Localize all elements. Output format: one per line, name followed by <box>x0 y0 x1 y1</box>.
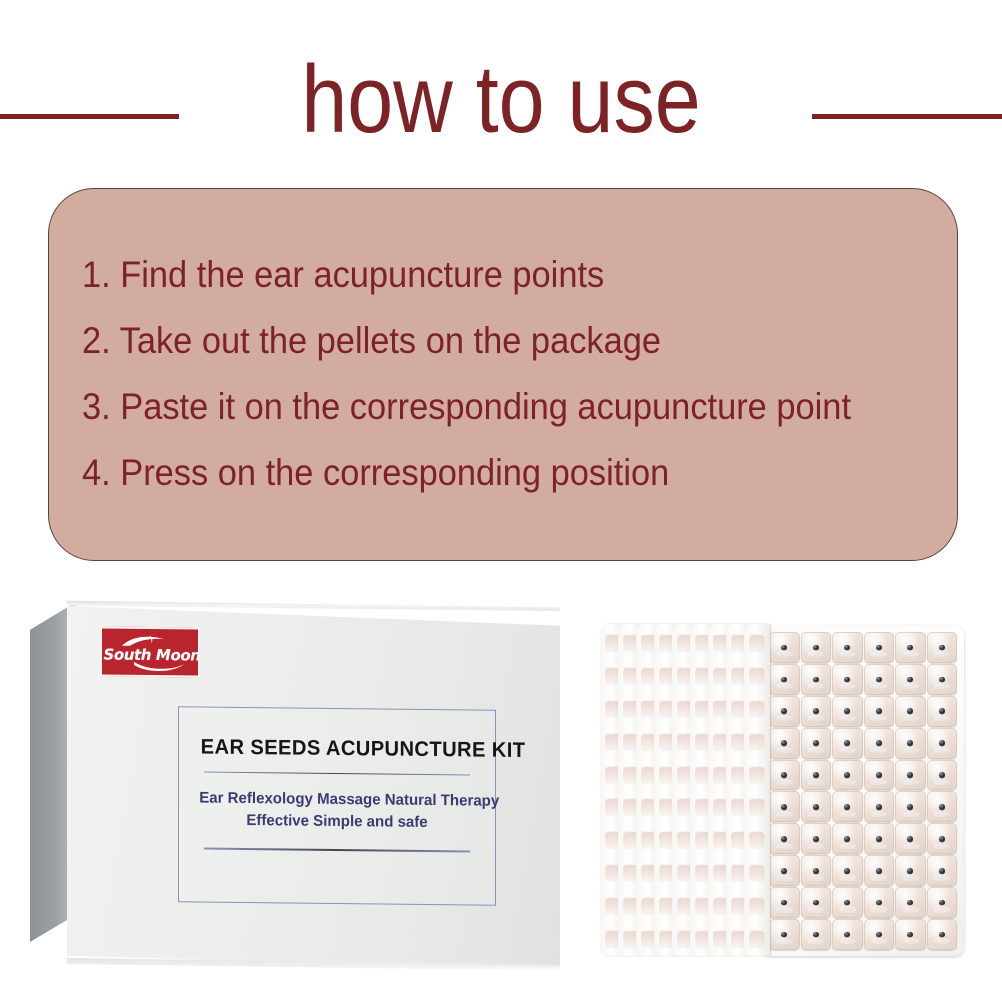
ear-seed-pad <box>801 664 832 695</box>
pellet-grid <box>769 632 957 950</box>
ear-seed-pad <box>895 728 926 759</box>
ear-seed-pad <box>927 728 958 759</box>
ear-seed-pad <box>801 887 832 918</box>
ear-seed-pad <box>769 728 800 759</box>
ear-seed-pad <box>832 728 863 759</box>
ear-seed-pad <box>801 919 832 950</box>
ear-seed-pad <box>895 823 926 854</box>
list-item: 2. Take out the pellets on the package <box>82 308 881 374</box>
ear-seed-pad <box>864 632 895 663</box>
ear-seed-pad <box>801 696 832 727</box>
ear-seed-pad <box>927 664 958 695</box>
ear-seed-pad <box>927 696 958 727</box>
ear-seed-pad <box>801 632 832 663</box>
box-label-title: EAR SEEDS ACUPUNCTURE KIT <box>201 736 474 763</box>
logo-underline-swoosh-icon <box>132 660 186 673</box>
ear-seed-pad <box>832 632 863 663</box>
ear-seed-pad <box>832 823 863 854</box>
ear-seed-pad <box>895 855 926 886</box>
ear-seed-pad <box>801 791 832 822</box>
list-item: 4. Press on the corresponding position <box>82 440 881 506</box>
ear-seed-pad <box>864 664 895 695</box>
sheet-edge-blisters <box>749 634 765 948</box>
ear-seed-pad <box>769 823 800 854</box>
ear-seed-sheets-image <box>600 624 966 960</box>
list-item: 1. Find the ear acupuncture points <box>82 242 881 308</box>
instructions-panel: 1. Find the ear acupuncture points 2. Ta… <box>48 188 958 561</box>
ear-seed-pad <box>832 887 863 918</box>
ear-seed-pad <box>832 664 863 695</box>
ear-seed-pad <box>895 919 926 950</box>
ear-seed-pad <box>864 919 895 950</box>
box-label-divider-top <box>204 772 470 776</box>
ear-seed-pad <box>895 887 926 918</box>
ear-seed-pad <box>927 823 958 854</box>
ear-seed-pad <box>927 760 958 791</box>
ear-seed-pad <box>864 823 895 854</box>
ear-seed-pad <box>927 887 958 918</box>
top-sheet <box>762 626 964 956</box>
ear-seed-pad <box>769 664 800 695</box>
sheet-edge <box>744 624 770 956</box>
ear-seed-pad <box>864 728 895 759</box>
ear-seed-pad <box>895 664 926 695</box>
ear-seed-pad <box>927 791 958 822</box>
ear-seed-pad <box>801 728 832 759</box>
ear-seed-pad <box>927 632 958 663</box>
ear-seed-pad <box>769 760 800 791</box>
ear-seed-pad <box>801 823 832 854</box>
instructions-list: 1. Find the ear acupuncture points 2. Ta… <box>82 242 941 506</box>
ear-seed-pad <box>832 696 863 727</box>
ear-seed-pad <box>895 632 926 663</box>
ear-seed-pad <box>927 855 958 886</box>
list-item: 3. Paste it on the corresponding acupunc… <box>82 374 881 440</box>
ear-seed-pad <box>832 760 863 791</box>
ear-seed-pad <box>769 919 800 950</box>
ear-seed-pad <box>769 855 800 886</box>
ear-seed-pad <box>927 919 958 950</box>
brand-logo: South Moon <box>100 626 200 677</box>
ear-seed-pad <box>864 791 895 822</box>
ear-seed-pad <box>769 696 800 727</box>
box-label-frame: EAR SEEDS ACUPUNCTURE KIT Ear Reflexolog… <box>178 706 496 905</box>
ear-seed-pad <box>864 855 895 886</box>
ear-seed-pad <box>769 887 800 918</box>
ear-seed-pad <box>895 696 926 727</box>
box-label-subtitle-line-1: Ear Reflexology Massage Natural Therapy <box>199 790 474 811</box>
ear-seed-pad <box>864 887 895 918</box>
ear-seed-pad <box>832 791 863 822</box>
box-label-subtitle-line-2: Effective Simple and safe <box>199 812 474 833</box>
heading-row: how to use <box>0 46 1002 156</box>
ear-seed-pad <box>895 791 926 822</box>
how-to-use-infographic: how to use 1. Find the ear acupuncture p… <box>0 0 1002 1002</box>
page-title: how to use <box>70 46 932 154</box>
ear-seed-pad <box>769 632 800 663</box>
ear-seed-pad <box>801 855 832 886</box>
ear-seed-pad <box>769 791 800 822</box>
ear-seed-pad <box>895 760 926 791</box>
ear-seed-pad <box>832 919 863 950</box>
box-label-content: EAR SEEDS ACUPUNCTURE KIT Ear Reflexolog… <box>179 707 495 904</box>
box-label-divider-bottom <box>204 848 470 852</box>
ear-seed-pad <box>864 696 895 727</box>
ear-seed-pad <box>832 855 863 886</box>
ear-seed-pad <box>801 760 832 791</box>
ear-seed-pad <box>864 760 895 791</box>
